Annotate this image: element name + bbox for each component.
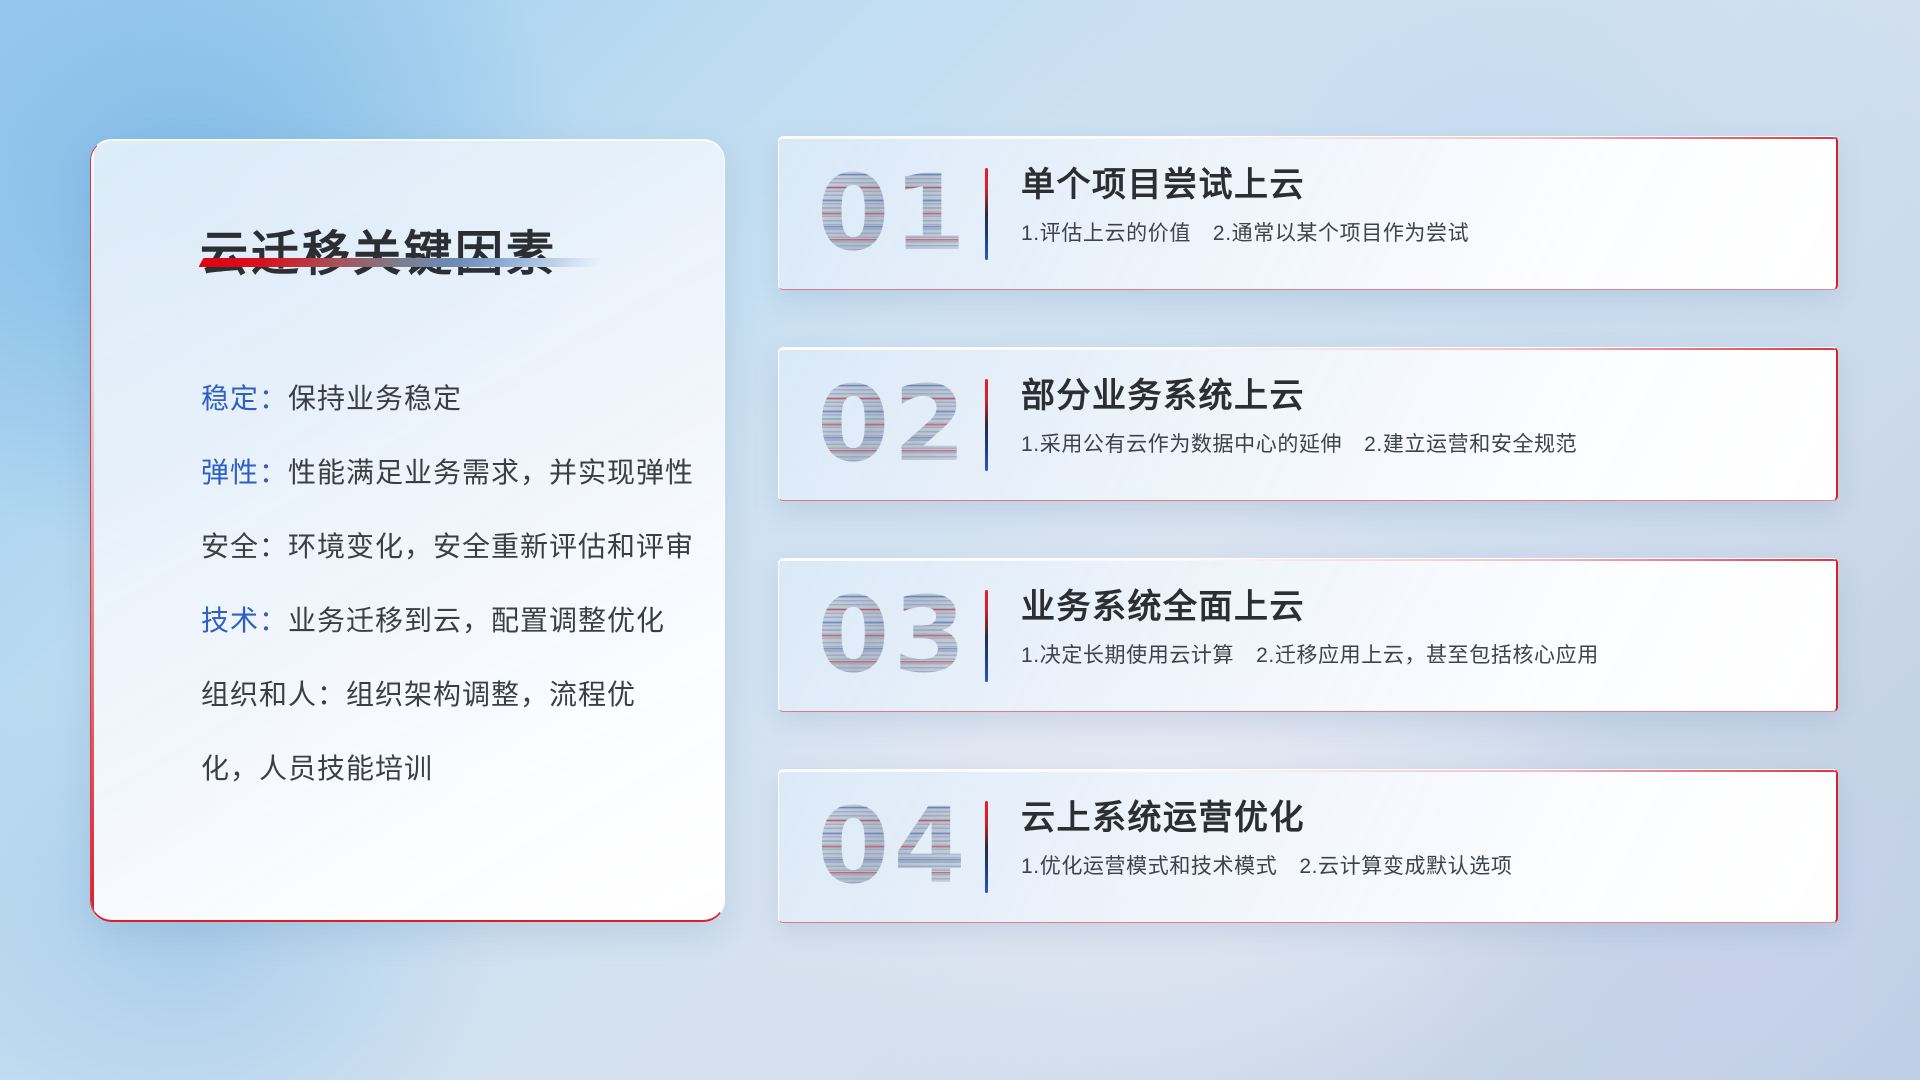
stage-divider-bar: [985, 801, 988, 893]
key-factor-label: 技术：: [201, 605, 288, 636]
key-factor-label: 组织和人：: [201, 679, 346, 710]
key-factor-text: 业务迁移到云，配置调整优化: [288, 605, 665, 636]
stage-divider-bar: [985, 590, 988, 682]
stage-body: 部分业务系统上云1.采用公有云作为数据中心的延伸2.建立运营和安全规范: [1021, 376, 1812, 458]
key-factor-text: 性能满足业务需求，并实现弹性: [288, 457, 694, 488]
slide-canvas: 云迁移关键因素 稳定：保持业务稳定弹性：性能满足业务需求，并实现弹性安全：环境变…: [0, 0, 1920, 1080]
migration-stages-list: 0101单个项目尝试上云1.评估上云的价值2.通常以某个项目作为尝试0202部分…: [778, 136, 1838, 923]
stage-description-point: 1.决定长期使用云计算: [1021, 644, 1234, 667]
stage-body: 云上系统运营优化1.优化运营模式和技术模式2.云计算变成默认选项: [1021, 798, 1812, 880]
stage-title: 单个项目尝试上云: [1021, 165, 1812, 206]
key-factor-item: 技术：业务迁移到云，配置调整优化: [201, 584, 684, 658]
stage-number: 03: [817, 583, 970, 687]
stage-body: 业务系统全面上云1.决定长期使用云计算2.迁移应用上云，甚至包括核心应用: [1021, 587, 1812, 669]
page-title: 云迁移关键因素: [200, 214, 557, 284]
migration-stage-card[interactable]: 0404云上系统运营优化1.优化运营模式和技术模式2.云计算变成默认选项: [778, 769, 1838, 923]
stage-description-point: 2.通常以某个项目作为尝试: [1213, 222, 1469, 245]
key-factor-item: 安全：环境变化，安全重新评估和评审: [201, 510, 684, 584]
stage-number: 02: [817, 372, 970, 476]
stage-body: 单个项目尝试上云1.评估上云的价值2.通常以某个项目作为尝试: [1021, 165, 1812, 247]
key-factor-item: 组织和人：组织架构调整，流程优化，人员技能培训: [201, 658, 684, 806]
stage-description: 1.采用公有云作为数据中心的延伸2.建立运营和安全规范: [1021, 431, 1812, 458]
stage-description: 1.评估上云的价值2.通常以某个项目作为尝试: [1021, 220, 1812, 247]
stage-description-point: 1.采用公有云作为数据中心的延伸: [1021, 433, 1342, 456]
migration-stage-card[interactable]: 0101单个项目尝试上云1.评估上云的价值2.通常以某个项目作为尝试: [778, 136, 1838, 290]
key-factor-text: 环境变化，安全重新评估和评审: [288, 531, 694, 562]
stage-number: 04: [817, 794, 970, 898]
stage-description-point: 2.建立运营和安全规范: [1364, 433, 1577, 456]
stage-divider-bar: [985, 379, 988, 471]
stage-title: 部分业务系统上云: [1021, 376, 1812, 417]
stage-description-point: 2.迁移应用上云，甚至包括核心应用: [1256, 644, 1599, 667]
stage-number: 01: [817, 161, 970, 265]
key-factors-list: 稳定：保持业务稳定弹性：性能满足业务需求，并实现弹性安全：环境变化，安全重新评估…: [201, 362, 684, 806]
key-factors-panel: 云迁移关键因素 稳定：保持业务稳定弹性：性能满足业务需求，并实现弹性安全：环境变…: [90, 139, 725, 922]
stage-description-point: 2.云计算变成默认选项: [1299, 855, 1512, 878]
key-factor-label: 弹性：: [201, 457, 288, 488]
key-factor-item: 稳定：保持业务稳定: [201, 362, 684, 436]
migration-stage-card[interactable]: 0202部分业务系统上云1.采用公有云作为数据中心的延伸2.建立运营和安全规范: [778, 347, 1838, 501]
stage-divider-bar: [985, 168, 988, 260]
stage-description: 1.决定长期使用云计算2.迁移应用上云，甚至包括核心应用: [1021, 642, 1812, 669]
key-factor-label: 稳定：: [201, 383, 288, 414]
stage-description: 1.优化运营模式和技术模式2.云计算变成默认选项: [1021, 853, 1812, 880]
migration-stage-card[interactable]: 0303业务系统全面上云1.决定长期使用云计算2.迁移应用上云，甚至包括核心应用: [778, 558, 1838, 712]
stage-title: 云上系统运营优化: [1021, 798, 1812, 839]
key-factor-label: 安全：: [201, 531, 288, 562]
stage-description-point: 1.评估上云的价值: [1021, 222, 1191, 245]
stage-title: 业务系统全面上云: [1021, 587, 1812, 628]
title-underline-accent: [199, 258, 604, 267]
stage-description-point: 1.优化运营模式和技术模式: [1021, 855, 1277, 878]
key-factor-item: 弹性：性能满足业务需求，并实现弹性: [201, 436, 684, 510]
key-factor-text: 保持业务稳定: [288, 383, 462, 414]
